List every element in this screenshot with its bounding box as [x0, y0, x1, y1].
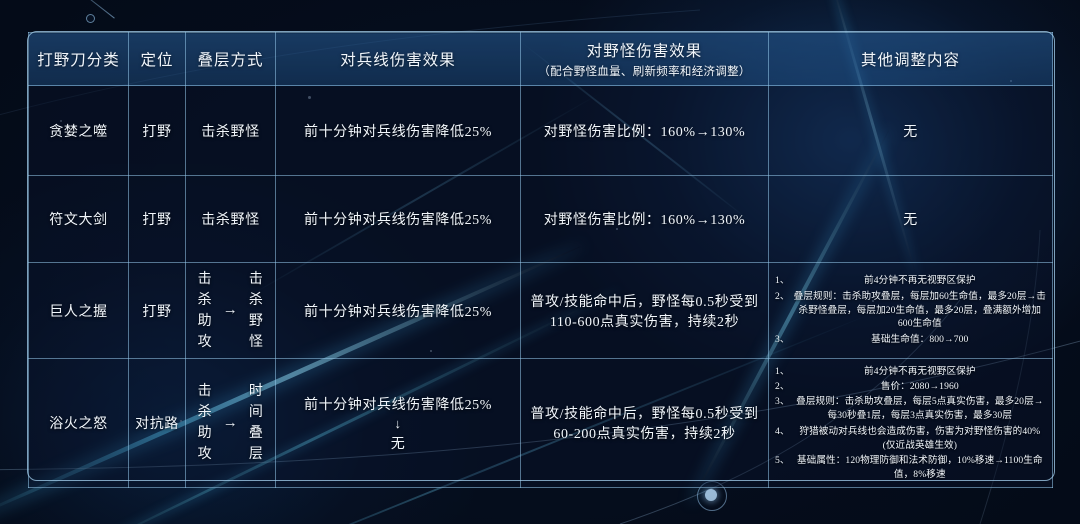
stacking-text: 击杀野怪: [201, 213, 259, 228]
cell-monster-damage: 对野怪伤害比例：160%→130%: [521, 176, 769, 263]
stacking-from: 击杀助攻: [192, 381, 218, 465]
table-row: 贪婪之噬 打野 击杀野怪 前十分钟对兵线伤害降低25% 对野怪伤害比例：160%…: [29, 86, 1053, 176]
cell-item-name: 符文大剑: [29, 176, 129, 263]
arrow-down-icon: ↓: [282, 416, 514, 432]
column-header-monster-damage: 对野怪伤害效果 （配合野怪血量、刷新频率和经济调整）: [521, 33, 769, 86]
item-name-text: 贪婪之噬: [49, 125, 107, 140]
list-item-number: 2、: [775, 380, 790, 394]
stacking-text: 击杀野怪: [201, 125, 259, 140]
cell-other-changes: 无: [769, 176, 1053, 263]
list-item: 2、售价：2080→1960: [775, 380, 1046, 394]
list-item-text: 基础属性：120物理防御和法术防御，10%移速→1100生命值，8%移速: [794, 454, 1046, 482]
table-body: 贪婪之噬 打野 击杀野怪 前十分钟对兵线伤害降低25% 对野怪伤害比例：160%…: [29, 86, 1053, 488]
list-item: 3、叠层规则：击杀助攻叠层，每层5点真实伤害，最多20层→每30秒叠1层，每层3…: [775, 395, 1046, 423]
item-name-text: 浴火之怒: [49, 417, 107, 432]
role-text: 打野: [142, 125, 171, 140]
list-item: 1、前4分钟不再无视野区保护: [775, 274, 1046, 288]
cell-item-name: 浴火之怒: [29, 359, 129, 488]
cell-role: 对抗路: [129, 359, 186, 488]
list-item-number: 5、: [775, 454, 790, 468]
cell-minion-damage: 前十分钟对兵线伤害降低25%: [276, 86, 521, 176]
list-item-text: 叠层规则：击杀助攻叠层，每层加60生命值，最多20层→击杀野怪叠层，每层加20生…: [794, 290, 1046, 332]
cell-minion-damage: 前十分钟对兵线伤害降低25%: [276, 176, 521, 263]
table-row: 符文大剑 打野 击杀野怪 前十分钟对兵线伤害降低25% 对野怪伤害比例：160%…: [29, 176, 1053, 263]
monster-damage-text: 普攻/技能命中后，野怪每0.5秒受到60-200点真实伤害，持续2秒: [530, 407, 758, 442]
cell-monster-damage: 普攻/技能命中后，野怪每0.5秒受到60-200点真实伤害，持续2秒: [521, 359, 769, 488]
other-changes-text: 无: [903, 213, 918, 228]
column-header-role: 定位: [129, 33, 186, 86]
list-item: 2、叠层规则：击杀助攻叠层，每层加60生命值，最多20层→击杀野怪叠层，每层加2…: [775, 290, 1046, 332]
monster-damage-text: 对野怪伤害比例：160%→130%: [544, 125, 746, 140]
header-title: 对野怪伤害效果: [587, 43, 703, 60]
cell-other-changes: 1、前4分钟不再无视野区保护 2、售价：2080→1960 3、叠层规则：击杀助…: [769, 359, 1053, 488]
cell-role: 打野: [129, 263, 186, 359]
stacking-from: 击杀助攻: [192, 269, 218, 353]
list-item-text: 售价：2080→1960: [794, 380, 1046, 394]
cell-minion-damage: 前十分钟对兵线伤害降低25% ↓ 无: [276, 359, 521, 488]
arrow-right-icon: →: [223, 301, 239, 320]
list-item-number: 1、: [775, 365, 790, 379]
arrow-right-icon: →: [223, 414, 239, 433]
minion-damage-text: 前十分钟对兵线伤害降低25%: [304, 398, 492, 413]
list-item-number: 3、: [775, 333, 790, 347]
cell-minion-damage: 前十分钟对兵线伤害降低25%: [276, 263, 521, 359]
cell-item-name: 贪婪之噬: [29, 86, 129, 176]
header-title: 叠层方式: [197, 52, 263, 69]
stacking-to: 时间叠层: [243, 381, 269, 465]
monster-damage-text: 普攻/技能命中后，野怪每0.5秒受到110-600点真实伤害，持续2秒: [530, 295, 758, 330]
header-subtitle: （配合野怪血量、刷新频率和经济调整）: [527, 63, 762, 79]
header-title: 打野刀分类: [37, 52, 120, 69]
list-item: 1、前4分钟不再无视野区保护: [775, 365, 1046, 379]
table-header-row: 打野刀分类 定位 叠层方式 对兵线伤害效果 对野怪伤害效果 （配合野怪血量、刷新…: [29, 33, 1053, 86]
list-item: 3、基础生命值：800→700: [775, 333, 1046, 347]
list-item-number: 4、: [775, 425, 790, 439]
column-header-category: 打野刀分类: [29, 33, 129, 86]
monster-damage-text: 对野怪伤害比例：160%→130%: [544, 213, 746, 228]
cell-stacking: 击杀助攻 → 击杀野怪: [186, 263, 276, 359]
minion-damage-text: 前十分钟对兵线伤害降低25%: [304, 125, 492, 140]
cell-role: 打野: [129, 176, 186, 263]
column-header-minion-damage: 对兵线伤害效果: [276, 33, 521, 86]
list-item-text: 前4分钟不再无视野区保护: [794, 365, 1046, 379]
cell-other-changes: 无: [769, 86, 1053, 176]
cell-role: 打野: [129, 86, 186, 176]
list-item-text: 狩猎被动对兵线也会造成伤害，伤害为对野怪伤害的40%(仅近战英雄生效): [794, 425, 1046, 453]
role-text: 对抗路: [135, 417, 179, 432]
table-row: 巨人之握 打野 击杀助攻 → 击杀野怪 前十分钟对兵线伤害降低25% 普攻/技能…: [29, 263, 1053, 359]
list-item-text: 叠层规则：击杀助攻叠层，每层5点真实伤害，最多20层→每30秒叠1层，每层3点真…: [794, 395, 1046, 423]
list-item: 4、狩猎被动对兵线也会造成伤害，伤害为对野怪伤害的40%(仅近战英雄生效): [775, 425, 1046, 453]
list-item-text: 前4分钟不再无视野区保护: [794, 274, 1046, 288]
cell-stacking: 击杀助攻 → 时间叠层: [186, 359, 276, 488]
header-title: 定位: [140, 52, 173, 69]
minion-damage-text: 前十分钟对兵线伤害降低25%: [304, 213, 492, 228]
minion-damage-after-text: 无: [282, 433, 514, 453]
cell-monster-damage: 普攻/技能命中后，野怪每0.5秒受到110-600点真实伤害，持续2秒: [521, 263, 769, 359]
role-text: 打野: [142, 305, 171, 320]
header-title: 其他调整内容: [861, 52, 960, 69]
other-changes-list: 1、前4分钟不再无视野区保护 2、叠层规则：击杀助攻叠层，每层加60生命值，最多…: [775, 274, 1046, 347]
item-name-text: 符文大剑: [49, 213, 107, 228]
list-item-text: 基础生命值：800→700: [794, 333, 1046, 347]
cell-monster-damage: 对野怪伤害比例：160%→130%: [521, 86, 769, 176]
jungle-item-table: 打野刀分类 定位 叠层方式 对兵线伤害效果 对野怪伤害效果 （配合野怪血量、刷新…: [28, 32, 1052, 478]
column-header-stacking: 叠层方式: [186, 33, 276, 86]
list-item: 5、基础属性：120物理防御和法术防御，10%移速→1100生命值，8%移速: [775, 454, 1046, 482]
stacking-to: 击杀野怪: [243, 269, 269, 353]
column-header-other-changes: 其他调整内容: [769, 33, 1053, 86]
other-changes-text: 无: [903, 125, 918, 140]
cell-other-changes: 1、前4分钟不再无视野区保护 2、叠层规则：击杀助攻叠层，每层加60生命值，最多…: [769, 263, 1053, 359]
table-row: 浴火之怒 对抗路 击杀助攻 → 时间叠层 前十分钟对兵线伤害降低25% ↓ 无: [29, 359, 1053, 488]
role-text: 打野: [142, 213, 171, 228]
list-item-number: 1、: [775, 274, 790, 288]
header-title: 对兵线伤害效果: [340, 52, 456, 69]
cell-item-name: 巨人之握: [29, 263, 129, 359]
other-changes-list: 1、前4分钟不再无视野区保护 2、售价：2080→1960 3、叠层规则：击杀助…: [775, 365, 1046, 482]
cell-stacking: 击杀野怪: [186, 176, 276, 263]
cell-stacking: 击杀野怪: [186, 86, 276, 176]
list-item-number: 3、: [775, 395, 790, 409]
minion-damage-text: 前十分钟对兵线伤害降低25%: [304, 305, 492, 320]
screenshot-stage: 打野刀分类 定位 叠层方式 对兵线伤害效果 对野怪伤害效果 （配合野怪血量、刷新…: [0, 0, 1080, 524]
item-name-text: 巨人之握: [49, 305, 107, 320]
list-item-number: 2、: [775, 290, 790, 304]
